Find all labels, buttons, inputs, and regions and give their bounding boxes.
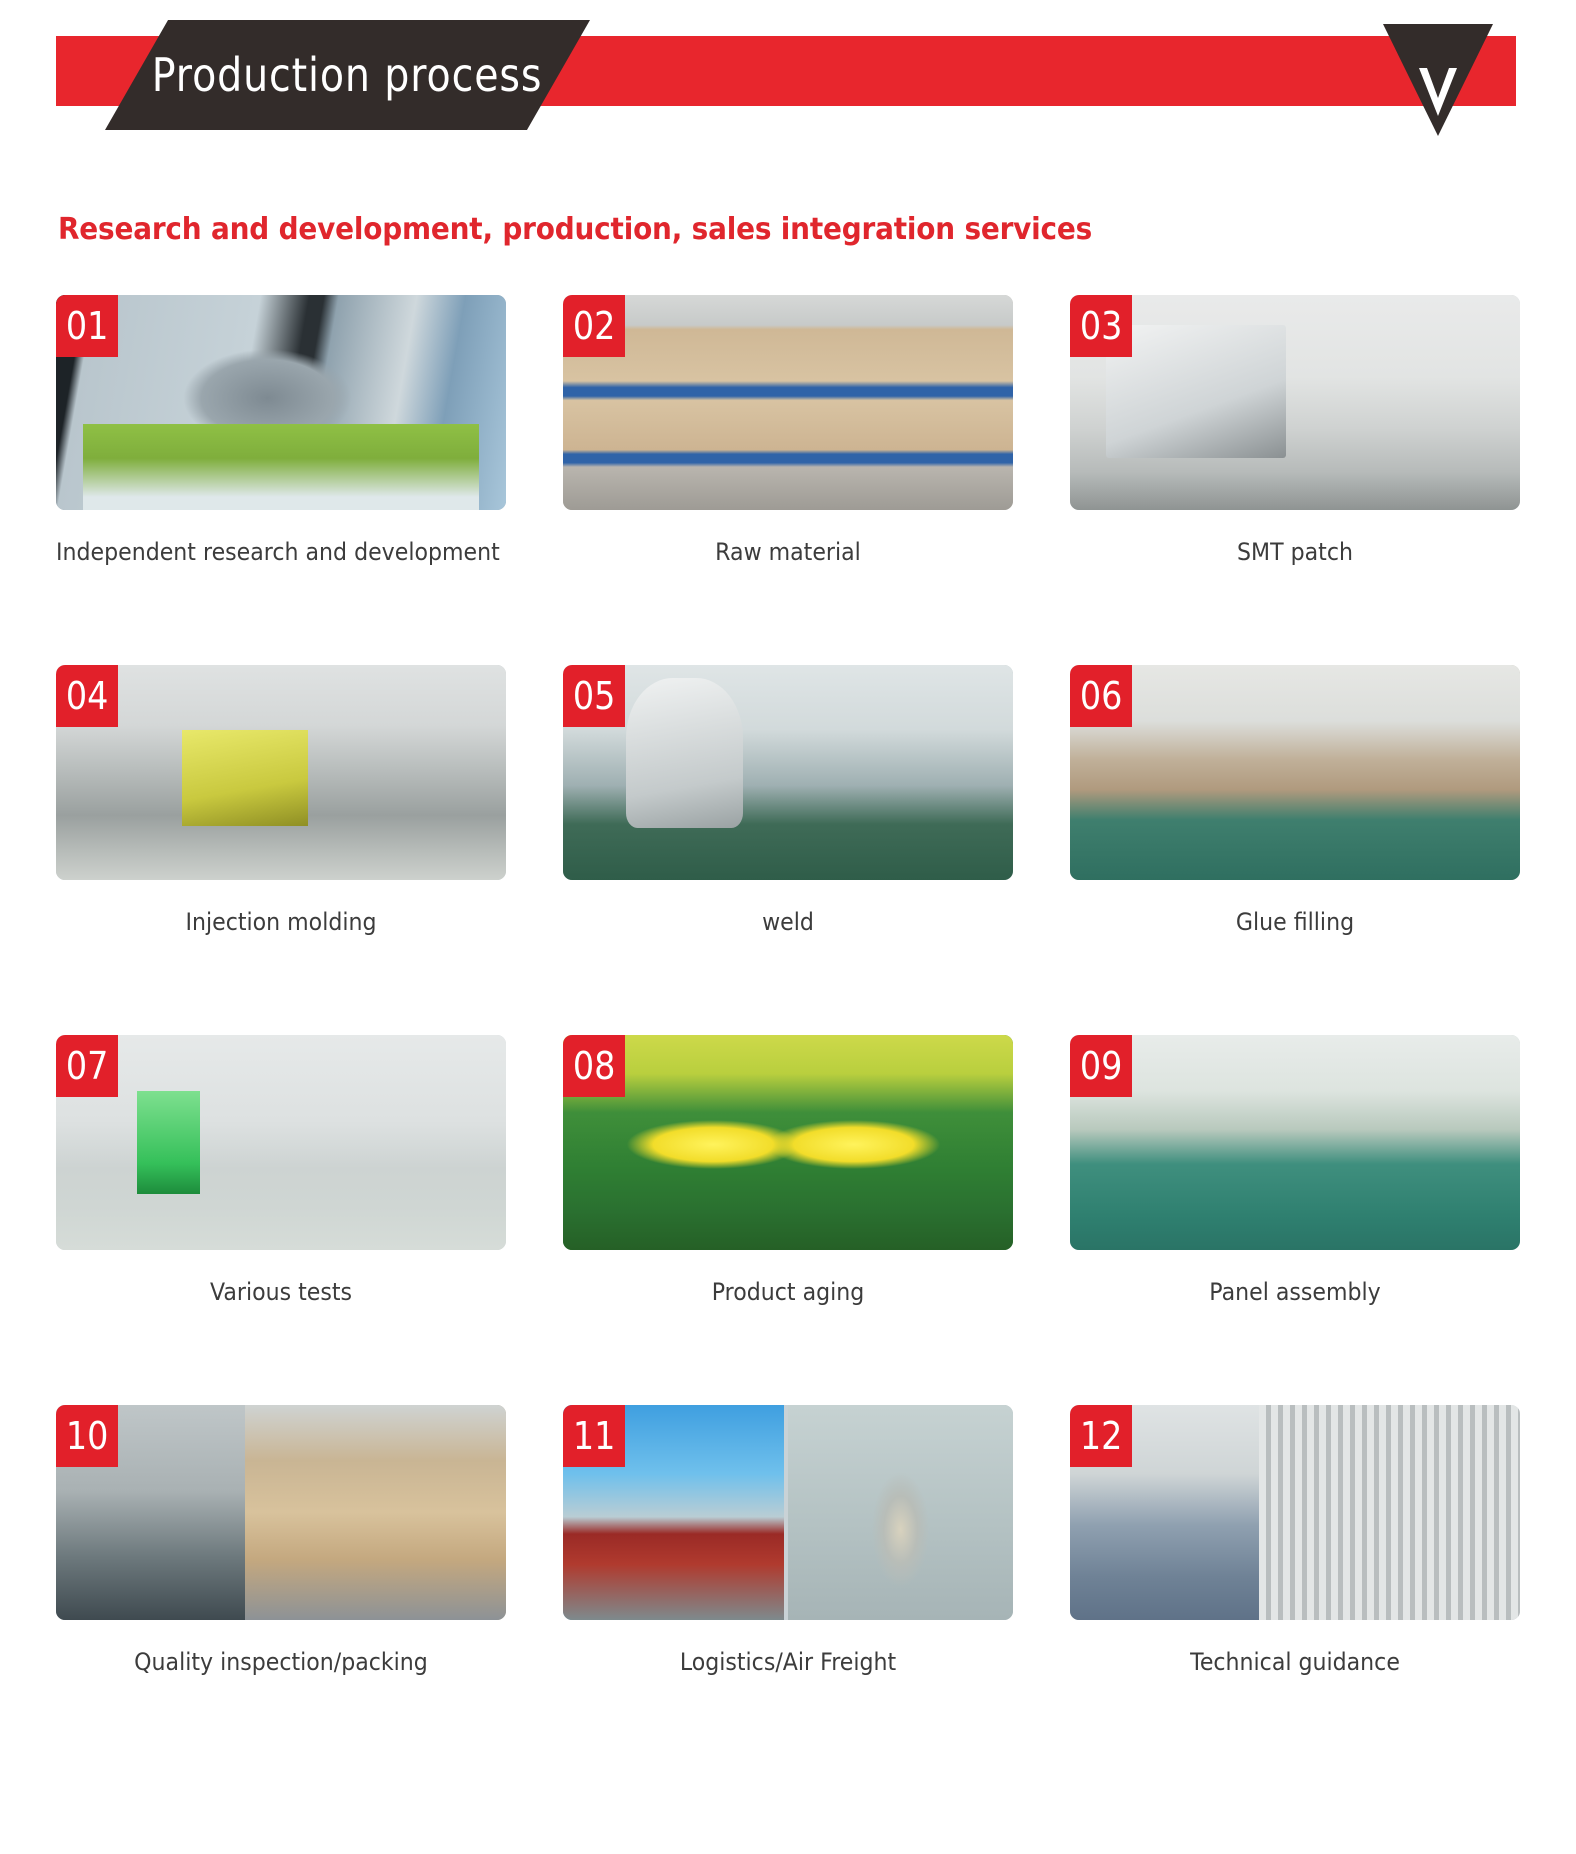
step-number-badge: 02 xyxy=(563,295,625,357)
banner-title-plate: Production process xyxy=(105,20,590,130)
step-number-text: 06 xyxy=(1080,674,1123,718)
section-subtitle: Research and development, production, sa… xyxy=(58,212,1092,247)
glue-filling-line-photo: 06 xyxy=(1070,665,1520,880)
trucks-and-airplane-photo: 11 xyxy=(563,1405,1013,1620)
process-card-caption: weld xyxy=(581,908,995,936)
process-card-12[interactable]: 12 Technical guidance xyxy=(1070,1405,1520,1775)
process-card-caption: Logistics/Air Freight xyxy=(581,1648,995,1676)
process-card-11[interactable]: 11 Logistics/Air Freight xyxy=(563,1405,1013,1775)
step-number-text: 09 xyxy=(1080,1044,1123,1088)
test-chamber-photo: 07 xyxy=(56,1035,506,1250)
step-number-text: 10 xyxy=(66,1414,109,1458)
process-card-caption: Glue filling xyxy=(1088,908,1502,936)
step-number-badge: 11 xyxy=(563,1405,625,1467)
process-card-caption: Various tests xyxy=(74,1278,488,1306)
process-grid: 01 Independent research and development … xyxy=(56,295,1526,1775)
step-number-badge: 12 xyxy=(1070,1405,1132,1467)
process-card-02[interactable]: 02 Raw material xyxy=(563,295,1013,665)
step-number-text: 01 xyxy=(66,304,109,348)
step-number-text: 05 xyxy=(573,674,616,718)
smt-machine-photo: 03 xyxy=(1070,295,1520,510)
step-number-badge: 05 xyxy=(563,665,625,727)
warehouse-shelves-photo: 02 xyxy=(563,295,1013,510)
page-title: Production process xyxy=(152,48,543,102)
step-number-badge: 10 xyxy=(56,1405,118,1467)
step-number-badge: 07 xyxy=(56,1035,118,1097)
step-number-text: 12 xyxy=(1080,1414,1123,1458)
panel-assembly-line-photo: 09 xyxy=(1070,1035,1520,1250)
chevron-down-triangle-icon xyxy=(1383,24,1493,136)
process-card-caption: Independent research and development xyxy=(56,538,470,566)
process-card-01[interactable]: 01 Independent research and development xyxy=(56,295,506,665)
process-card-07[interactable]: 07 Various tests xyxy=(56,1035,506,1405)
injection-molding-machine-photo: 04 xyxy=(56,665,506,880)
process-card-caption: Injection molding xyxy=(74,908,488,936)
inspection-and-packing-photo: 10 xyxy=(56,1405,506,1620)
step-number-text: 08 xyxy=(573,1044,616,1088)
header-banner: Production process xyxy=(0,0,1576,150)
process-card-10[interactable]: 10 Quality inspection/packing xyxy=(56,1405,506,1775)
step-number-text: 04 xyxy=(66,674,109,718)
production-process-page: Production process Research and developm… xyxy=(0,0,1576,1854)
step-number-text: 03 xyxy=(1080,304,1123,348)
process-card-09[interactable]: 09 Panel assembly xyxy=(1070,1035,1520,1405)
process-card-03[interactable]: 03 SMT patch xyxy=(1070,295,1520,665)
technician-led-wall-photo: 12 xyxy=(1070,1405,1520,1620)
process-card-caption: SMT patch xyxy=(1088,538,1502,566)
step-number-badge: 03 xyxy=(1070,295,1132,357)
process-card-04[interactable]: 04 Injection molding xyxy=(56,665,506,1035)
step-number-text: 07 xyxy=(66,1044,109,1088)
product-aging-lights-photo: 08 xyxy=(563,1035,1013,1250)
step-number-badge: 09 xyxy=(1070,1035,1132,1097)
cad-workstation-photo: 01 xyxy=(56,295,506,510)
process-card-caption: Technical guidance xyxy=(1088,1648,1502,1676)
process-card-08[interactable]: 08 Product aging xyxy=(563,1035,1013,1405)
step-number-badge: 06 xyxy=(1070,665,1132,727)
step-number-badge: 08 xyxy=(563,1035,625,1097)
process-card-caption: Raw material xyxy=(581,538,995,566)
welding-station-photo: 05 xyxy=(563,665,1013,880)
step-number-text: 11 xyxy=(573,1414,616,1458)
step-number-text: 02 xyxy=(573,304,616,348)
process-card-caption: Panel assembly xyxy=(1088,1278,1502,1306)
process-card-caption: Product aging xyxy=(581,1278,995,1306)
process-card-05[interactable]: 05 weld xyxy=(563,665,1013,1035)
step-number-badge: 01 xyxy=(56,295,118,357)
process-card-caption: Quality inspection/packing xyxy=(74,1648,488,1676)
step-number-badge: 04 xyxy=(56,665,118,727)
process-card-06[interactable]: 06 Glue filling xyxy=(1070,665,1520,1035)
